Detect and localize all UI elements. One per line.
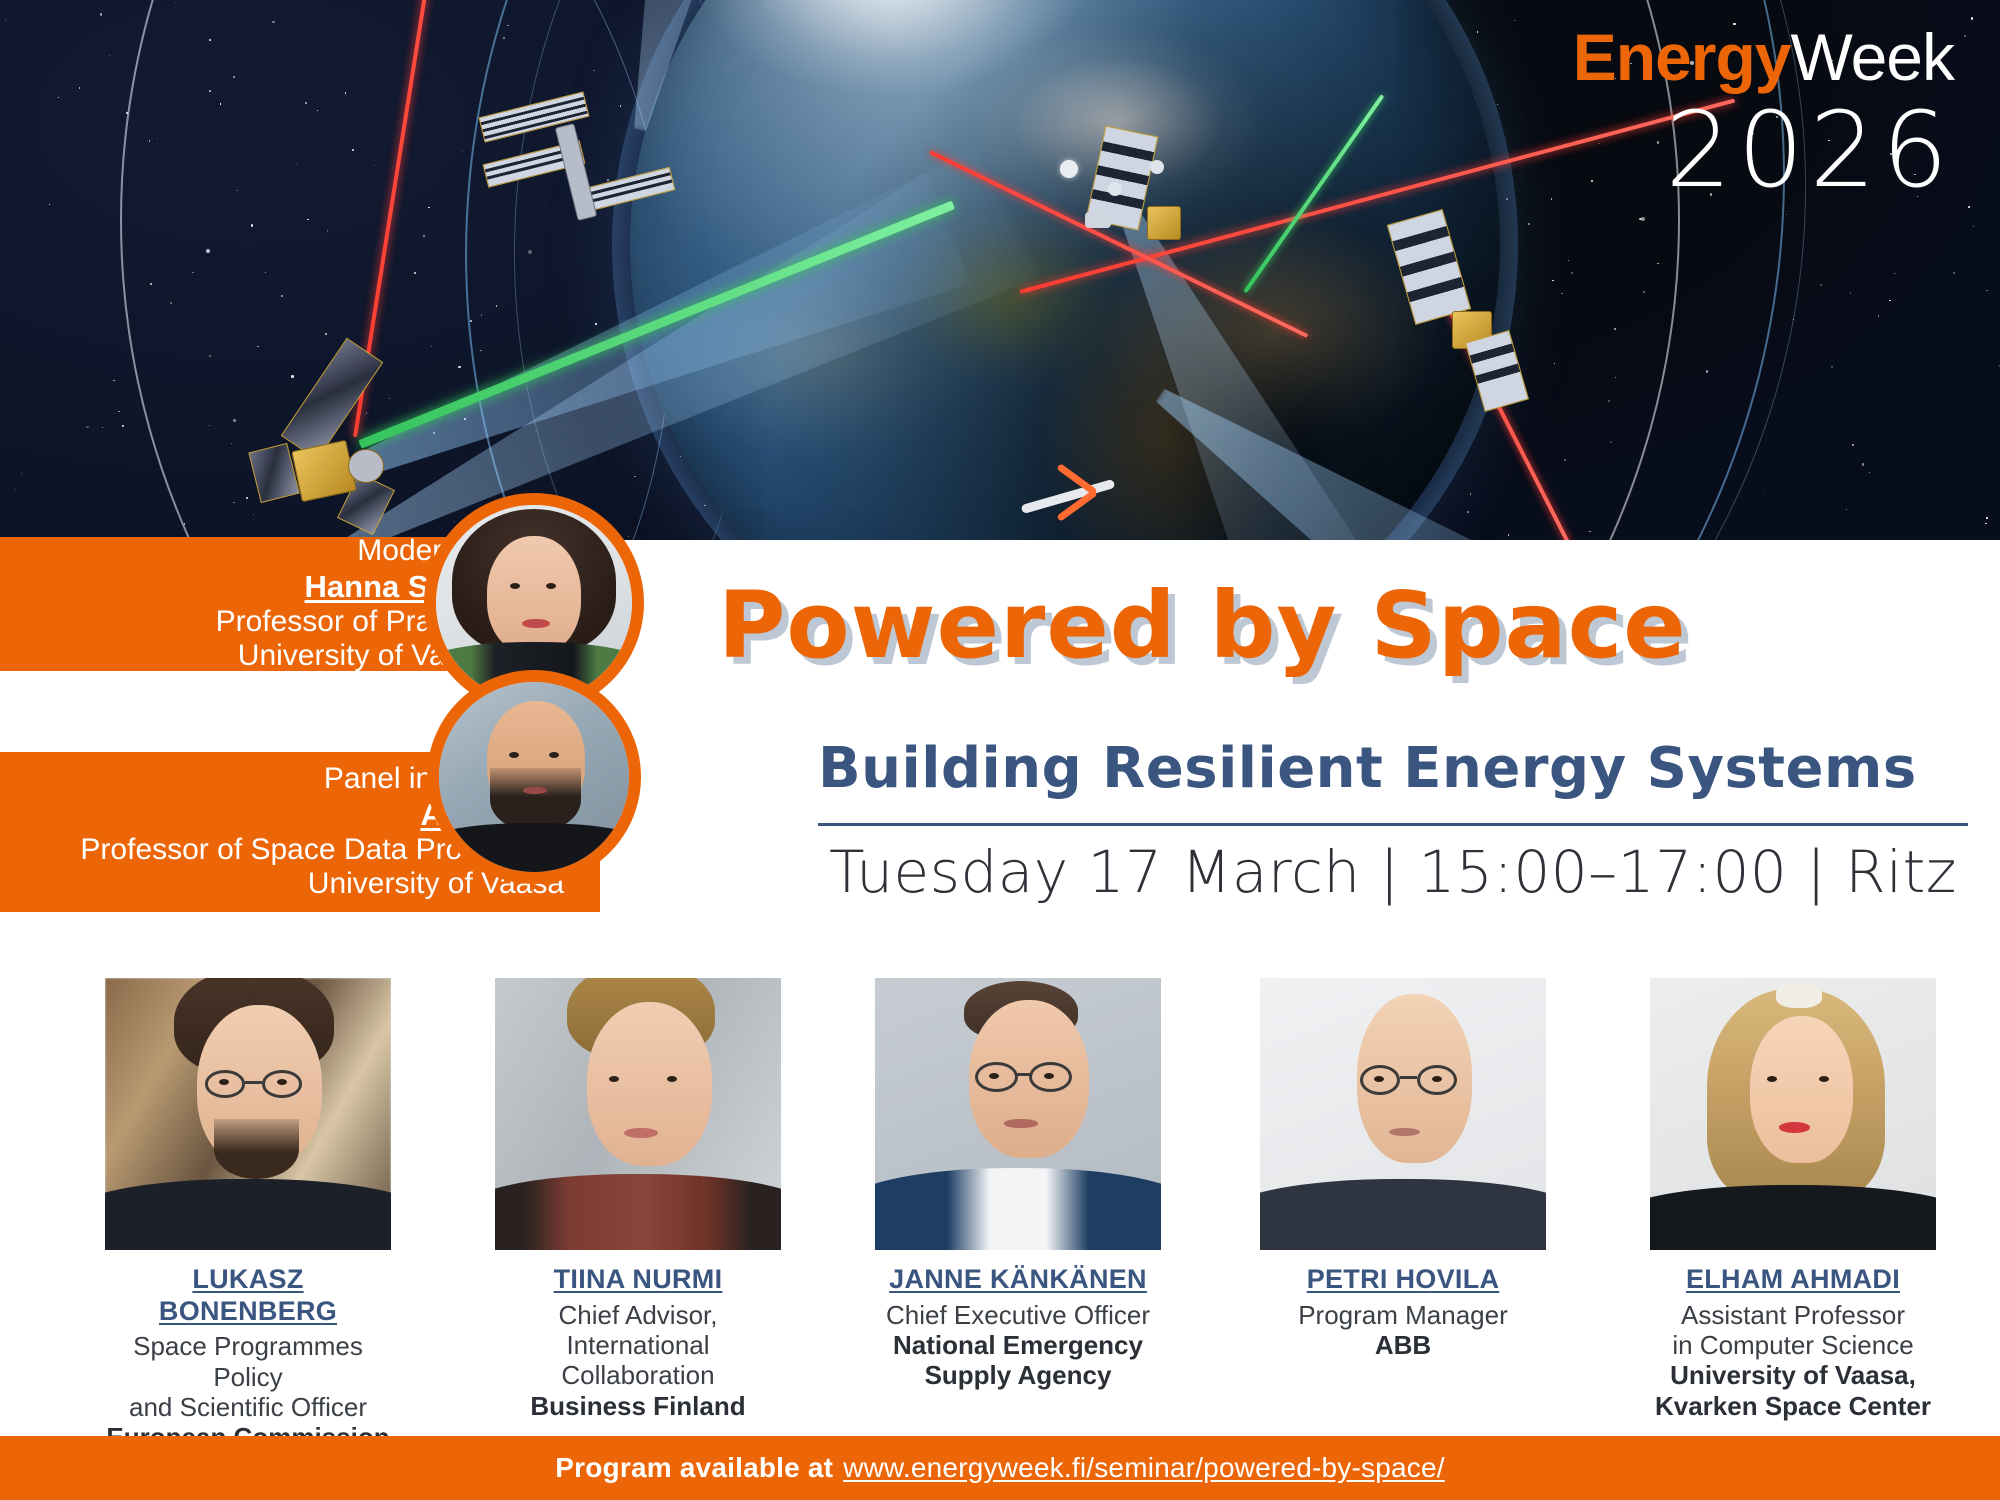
satellite-iss (470, 60, 700, 270)
event-title: Powered by Space (718, 572, 1968, 679)
speaker-name: ELHAM AHMADI (1650, 1264, 1936, 1296)
ground-node-1 (1060, 160, 1078, 178)
speaker-card: JANNE KÄNKÄNEN Chief Executive Officer N… (875, 978, 1161, 1391)
space-hero-background: EnergyWeek 2026 (0, 0, 2000, 540)
panel-intro-organization: University of Vaasa (0, 867, 564, 902)
moderator-organization: University of Vaasa (0, 639, 494, 674)
speaker-organization: ABB (1260, 1330, 1546, 1360)
satellite-aircraft (1020, 470, 1130, 530)
event-poster: EnergyWeek 2026 Moderator Hanna Smith Pr… (0, 0, 2000, 1500)
satellite-left (250, 395, 440, 540)
panel-intro-avatar (427, 670, 641, 884)
speaker-role: Assistant Professor in Computer Science (1650, 1300, 1936, 1361)
speaker-photo (105, 978, 391, 1250)
event-subtitle: Building Resilient Energy Systems (818, 736, 1968, 801)
speaker-organization: National Emergency Supply Agency (875, 1330, 1161, 1391)
footer-bar: Program available at www.energyweek.fi/s… (0, 1436, 2000, 1500)
title-divider (818, 823, 1968, 826)
speaker-card: LUKASZ BONENBERG Space Programmes Policy… (105, 978, 391, 1483)
speaker-photo (495, 978, 781, 1250)
moderator-role-label: Moderator (0, 534, 494, 569)
speaker-organization: Business Finland (495, 1391, 781, 1421)
avatar-shoulders (427, 823, 641, 872)
logo-brand-first: Energy (1573, 20, 1791, 94)
speaker-name: PETRI HOVILA (1260, 1264, 1546, 1296)
speaker-role: Chief Executive Officer (875, 1300, 1161, 1330)
moderator-title: Professor of Practice (0, 605, 494, 640)
speaker-name: JANNE KÄNKÄNEN (875, 1264, 1161, 1296)
ground-node-3 (1150, 160, 1164, 174)
speaker-card: ELHAM AHMADI Assistant Professor in Comp… (1650, 978, 1936, 1421)
speaker-organization: University of Vaasa, Kvarken Space Cente… (1650, 1360, 1936, 1421)
footer-label: Program available at (555, 1452, 833, 1484)
ground-node-4 (1085, 212, 1111, 228)
logo-year: 2026 (1573, 98, 1954, 202)
moderator-name: Hanna Smith (0, 569, 494, 605)
speaker-photo (1260, 978, 1546, 1250)
speaker-name: LUKASZ BONENBERG (105, 1264, 391, 1327)
event-datetime: Tuesday 17 March | 15:00–17:00 | Ritz (818, 838, 1968, 906)
hair-clip (1776, 983, 1822, 1007)
speakers-row: LUKASZ BONENBERG Space Programmes Policy… (0, 978, 2000, 1428)
avatar-head (487, 536, 581, 654)
logo-brand-second: Week (1790, 20, 1954, 94)
program-url-link[interactable]: www.energyweek.fi/seminar/powered-by-spa… (843, 1452, 1445, 1484)
speaker-role: Space Programmes Policy and Scientific O… (105, 1331, 391, 1422)
energyweek-logo: EnergyWeek 2026 (1573, 24, 1954, 202)
speaker-role: Chief Advisor, International Collaborati… (495, 1300, 781, 1391)
satellite-right-lower (1400, 215, 1560, 395)
ground-node-2 (1108, 182, 1122, 196)
speaker-photo (875, 978, 1161, 1250)
speaker-card: PETRI HOVILA Program Manager ABB (1260, 978, 1546, 1360)
logo-wordmark: EnergyWeek (1573, 24, 1954, 90)
speaker-name: TIINA NURMI (495, 1264, 781, 1296)
speaker-card: TIINA NURMI Chief Advisor, International… (495, 978, 781, 1421)
speaker-role: Program Manager (1260, 1300, 1546, 1330)
speaker-photo (1650, 978, 1936, 1250)
